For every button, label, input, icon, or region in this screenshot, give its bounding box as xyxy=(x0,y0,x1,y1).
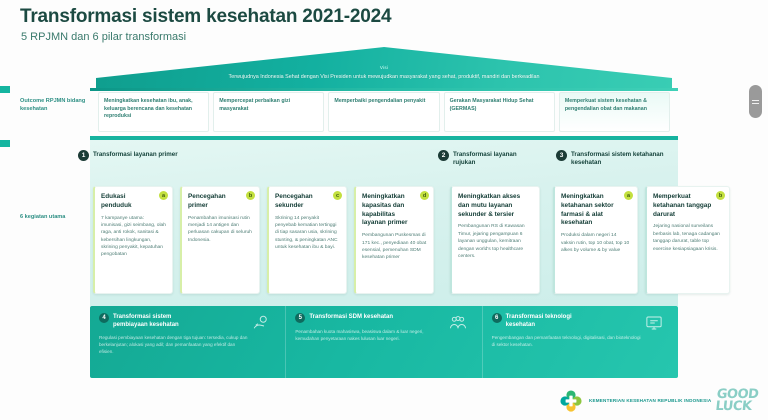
card-badge-a1: a xyxy=(159,191,168,200)
footer-pillar-5[interactable]: 5 Transformasi SDM kesehatan Penambahan … xyxy=(286,306,482,378)
page-title: Transformasi sistem kesehatan 2021-2024 xyxy=(20,6,391,28)
good-luck-mark: GOOD LUCK xyxy=(715,389,759,414)
footer-badge-4: 4 xyxy=(99,313,109,323)
footer-head-4: 4 Transformasi sistem pembiayaan kesehat… xyxy=(99,313,275,329)
infographic-canvas: Transformasi sistem kesehatan 2021-2024 … xyxy=(0,0,768,420)
footer-title-5: Transformasi SDM kesehatan xyxy=(309,313,393,321)
roof-vision-label: Visi xyxy=(96,65,672,70)
card-title-2: Pencegahan primer xyxy=(188,193,253,211)
card-badge-b2: b xyxy=(716,191,725,200)
card-body-5: Pembangunan RS di Kawasan Timur, jejarin… xyxy=(458,223,533,260)
card-title-7: Memperkuat ketahanan tanggap darurat xyxy=(653,193,723,219)
outcome-cell-3[interactable]: Memperbaiki pengendalian penyakit xyxy=(328,92,439,132)
rail-label-kegiatan: 6 kegiatan utama xyxy=(20,213,94,221)
card-body-6: Produksi dalam negeri 14 vaksin rutin, t… xyxy=(561,232,631,254)
luck-text: LUCK xyxy=(715,401,758,413)
kemenkes-logo-icon xyxy=(558,388,584,414)
section-header-1[interactable]: 1 Transformasi layanan primer xyxy=(78,150,278,161)
ministry-name: KEMENTERIAN KESEHATAN REPUBLIK INDONESIA xyxy=(589,398,711,404)
card-edukasi-penduduk[interactable]: a Edukasi penduduk 7 kampanye utama: imu… xyxy=(93,186,173,294)
coin-hand-icon xyxy=(251,314,271,332)
card-badge-c1: c xyxy=(333,191,342,200)
scroll-handle[interactable] xyxy=(749,85,762,118)
section-badge-3: 3 xyxy=(556,150,567,161)
people-icon xyxy=(448,314,468,332)
card-badge-d1: d xyxy=(420,191,429,200)
section-header-3[interactable]: 3 Transformasi sistem ketahanan kesehata… xyxy=(556,150,676,168)
section-header-2[interactable]: 2 Transformasi layanan rujukan xyxy=(438,150,538,168)
footer-pillar-4[interactable]: 4 Transformasi sistem pembiayaan kesehat… xyxy=(90,306,286,378)
footer-body-5: Penambahan kuota mahasiswa, beasiswa dal… xyxy=(295,328,445,342)
outcome-cell-2[interactable]: Mempercepat perbaikan gizi masyarakat xyxy=(213,92,324,132)
rail-label-outcome: Outcome RPJMN bidang kesehatan xyxy=(20,97,94,113)
handle-grip-line xyxy=(752,100,759,101)
footer-logo: KEMENTERIAN KESEHATAN REPUBLIK INDONESIA… xyxy=(558,388,758,414)
left-accent-bottom xyxy=(0,140,10,147)
page-subtitle: 5 RPJMN dan 6 pilar transformasi xyxy=(21,31,186,43)
left-accent-top xyxy=(0,86,10,93)
outcome-row: Meningkatkan kesehatan ibu, anak, keluar… xyxy=(96,92,672,132)
section-title-2: Transformasi layanan rujukan xyxy=(453,150,538,168)
card-body-2: Penambahan imunisasi rutin menjadi 14 an… xyxy=(188,215,253,244)
card-ketahanan-farmasi-alkes[interactable]: a Meningkatkan ketahanan sektor farmasi … xyxy=(553,186,638,294)
footer-head-5: 5 Transformasi SDM kesehatan xyxy=(295,313,471,323)
monitor-icon xyxy=(644,314,664,332)
section-title-3: Transformasi sistem ketahanan kesehatan xyxy=(571,150,676,168)
card-title-6: Meningkatkan ketahanan sektor farmasi & … xyxy=(561,193,631,228)
footer-badge-5: 5 xyxy=(295,313,305,323)
footer-title-4: Transformasi sistem pembiayaan kesehatan xyxy=(113,313,201,329)
card-title-4: Meningkatkan kapasitas dan kapabilitas l… xyxy=(362,193,427,228)
footer-title-6: Transformasi teknologi kesehatan xyxy=(506,313,594,329)
card-body-1: 7 kampanye utama: imunisasi, gizi seimba… xyxy=(101,215,166,259)
card-badge-a2: a xyxy=(624,191,633,200)
footer-badge-6: 6 xyxy=(492,313,502,323)
section-title-1: Transformasi layanan primer xyxy=(93,150,178,159)
card-body-3: Skrining 14 penyakit penyebab kematian t… xyxy=(275,215,340,252)
card-badge-b1: b xyxy=(246,191,255,200)
outcome-cell-1[interactable]: Meningkatkan kesehatan ibu, anak, keluar… xyxy=(98,92,209,132)
card-ketahanan-tanggap-darurat[interactable]: b Memperkuat ketahanan tanggap darurat J… xyxy=(645,186,730,294)
footer-pillars-band: 4 Transformasi sistem pembiayaan kesehat… xyxy=(90,306,678,378)
card-body-7: Jejaring nasional surveilans berbasis la… xyxy=(653,223,723,252)
footer-pillar-6[interactable]: 6 Transformasi teknologi kesehatan Penge… xyxy=(483,306,678,378)
footer-body-6: Pengembangan dan pemanfaatan teknologi, … xyxy=(492,334,642,348)
footer-head-6: 6 Transformasi teknologi kesehatan xyxy=(492,313,668,329)
roof-vision-text: Terwujudnya Indonesia Sehat dengan Visi … xyxy=(136,74,632,81)
card-kapasitas-layanan-primer[interactable]: d Meningkatkan kapasitas dan kapabilitas… xyxy=(354,186,434,294)
card-pencegahan-sekunder[interactable]: c Pencegahan sekunder Skrining 14 penyak… xyxy=(267,186,347,294)
section-badge-1: 1 xyxy=(78,150,89,161)
section-badge-2: 2 xyxy=(438,150,449,161)
handle-grip-line xyxy=(752,103,759,104)
card-title-1: Edukasi penduduk xyxy=(101,193,166,211)
footer-body-4: Regulasi pembiayaan kesehatan dengan tig… xyxy=(99,334,249,355)
roof-eave xyxy=(90,88,678,91)
card-body-4: Pembangunan Puskesmas di 171 kec., penye… xyxy=(362,232,427,261)
card-title-3: Pencegahan sekunder xyxy=(275,193,340,211)
outcome-cell-5[interactable]: Memperkuat sistem kesehatan & pengendali… xyxy=(559,92,670,132)
card-pencegahan-primer[interactable]: b Pencegahan primer Penambahan imunisasi… xyxy=(180,186,260,294)
card-title-5: Meningkatkan akses dan mutu layanan seku… xyxy=(458,193,533,219)
outcome-cell-4[interactable]: Gerakan Masyarakat Hidup Sehat (GERMAS) xyxy=(444,92,555,132)
temple-roof: Visi Terwujudnya Indonesia Sehat dengan … xyxy=(96,47,672,90)
card-akses-sekunder-tersier[interactable]: Meningkatkan akses dan mutu layanan seku… xyxy=(450,186,540,294)
